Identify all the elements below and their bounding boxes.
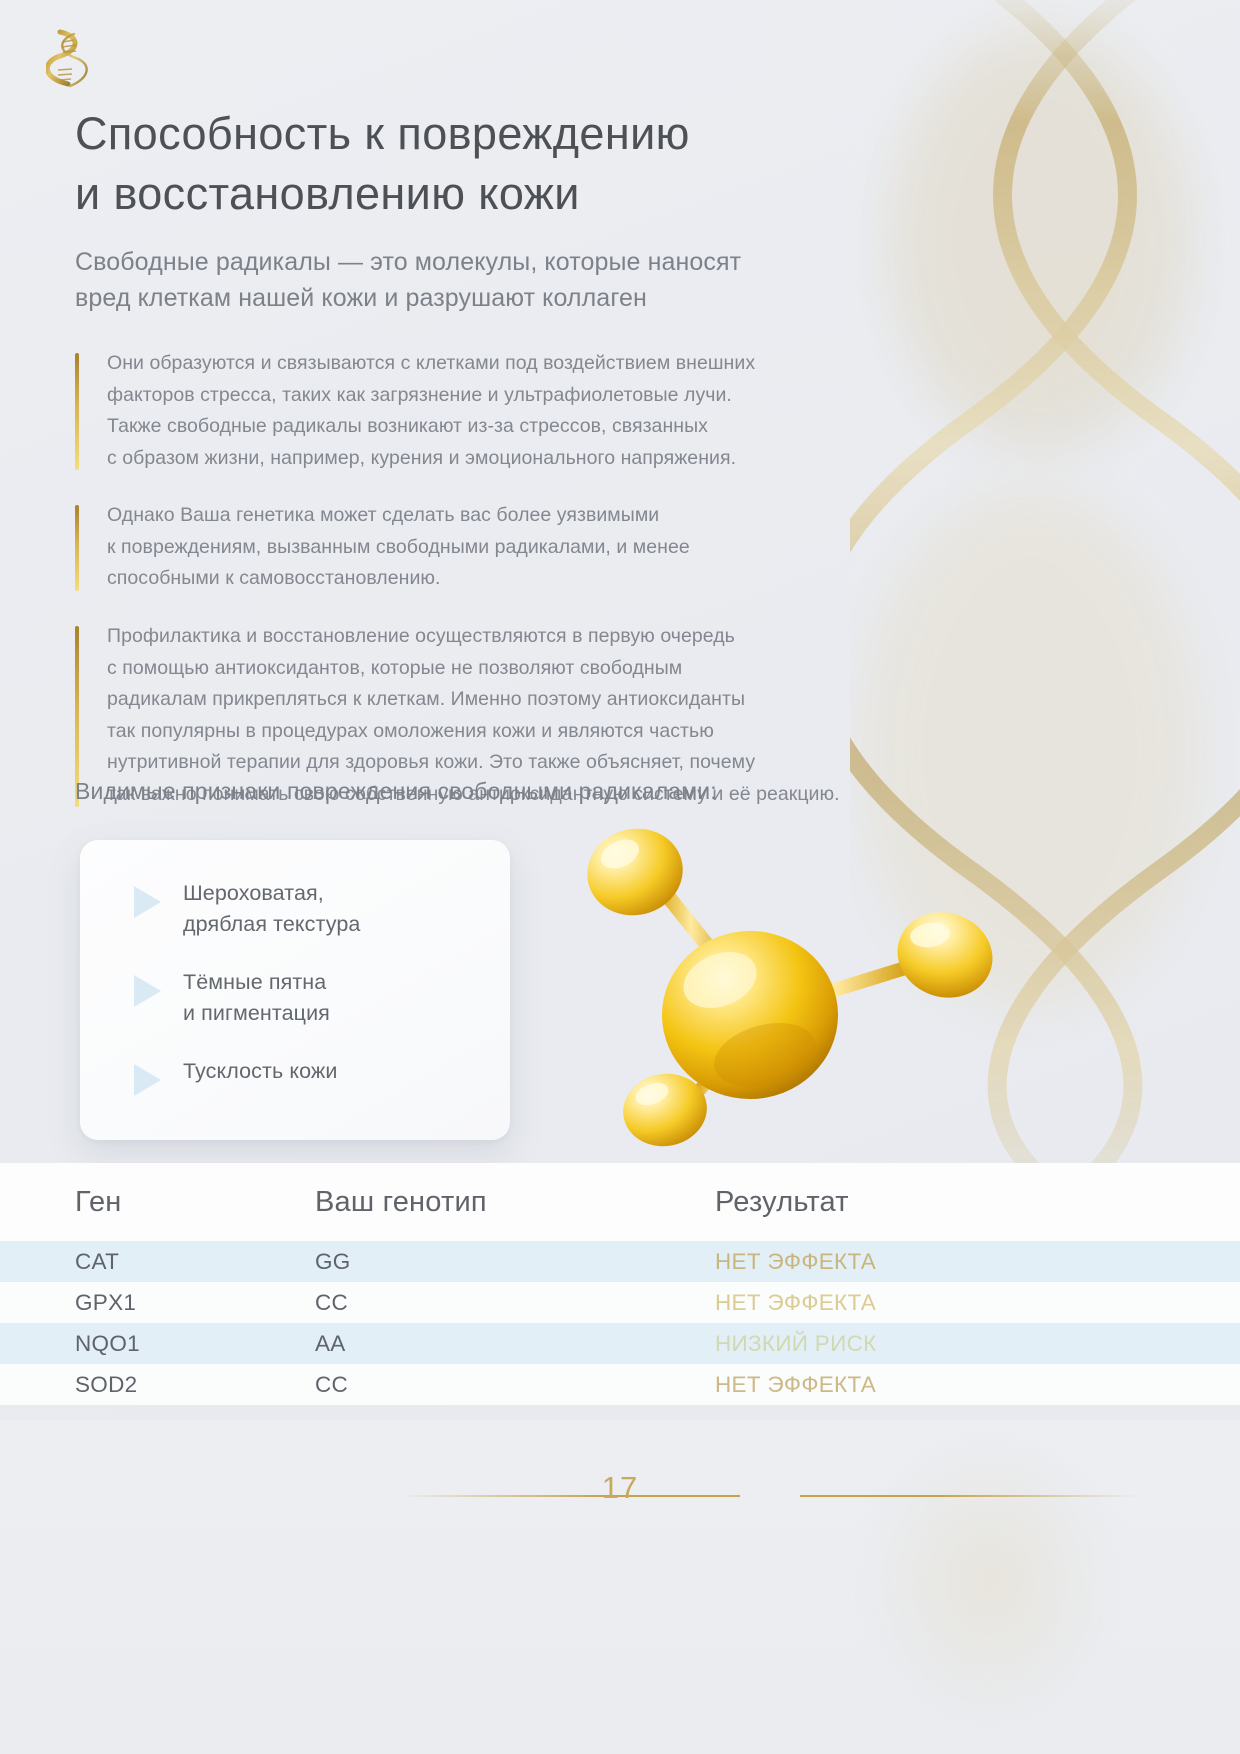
info-block-text: Однако Ваша генетика может сделать вас б… — [107, 500, 937, 595]
gene-results-table: Ген Ваш генотип Результат CAT GG НЕТ ЭФФ… — [0, 1163, 1240, 1405]
triangle-right-icon — [134, 1064, 161, 1096]
visible-signs-card: Шероховатая, дряблая текстура Тёмные пят… — [80, 840, 510, 1140]
table-row: SOD2 CC НЕТ ЭФФЕКТА — [0, 1364, 1240, 1405]
cell-genotype: CC — [315, 1290, 715, 1316]
page-number: 17 — [0, 1470, 1240, 1506]
table-row: CAT GG НЕТ ЭФФЕКТА — [0, 1241, 1240, 1282]
list-item-label: Тёмные пятна и пигментация — [183, 967, 330, 1028]
page-subtitle: Свободные радикалы — это молекулы, котор… — [75, 245, 955, 316]
dna-helix-logo-icon — [46, 26, 90, 94]
cell-genotype: AA — [315, 1331, 715, 1357]
list-item: Тусклость кожи — [110, 1056, 480, 1096]
table-header-row: Ген Ваш генотип Результат — [0, 1163, 1240, 1241]
report-page: Способность к повреждению и восстановлен… — [0, 0, 1240, 1754]
gold-molecule-illustration — [560, 820, 1030, 1160]
column-header-result: Результат — [715, 1186, 1240, 1219]
column-header-gene: Ген — [0, 1186, 315, 1219]
cell-gene: NQO1 — [0, 1331, 315, 1357]
list-item: Шероховатая, дряблая текстура — [110, 878, 480, 939]
cell-result: НЕТ ЭФФЕКТА — [715, 1290, 1240, 1316]
visible-signs-heading: Видимые признаки повреждения свободными … — [75, 778, 717, 805]
column-header-genotype: Ваш генотип — [315, 1186, 715, 1219]
cell-genotype: GG — [315, 1249, 715, 1275]
triangle-right-icon — [134, 886, 161, 918]
cell-gene: GPX1 — [0, 1290, 315, 1316]
info-block-text: Они образуются и связываются с клетками … — [107, 348, 937, 474]
cell-result: НЕТ ЭФФЕКТА — [715, 1249, 1240, 1275]
cell-genotype: CC — [315, 1372, 715, 1398]
table-row: GPX1 CC НЕТ ЭФФЕКТА — [0, 1282, 1240, 1323]
cell-gene: SOD2 — [0, 1372, 315, 1398]
page-title: Способность к повреждению и восстановлен… — [75, 104, 955, 225]
cell-result: НИЗКИЙ РИСК — [715, 1331, 1240, 1357]
info-block-list: Они образуются и связываются с клетками … — [75, 348, 937, 811]
info-block: Однако Ваша генетика может сделать вас б… — [75, 500, 937, 595]
gold-accent-bar — [75, 505, 79, 591]
cell-gene: CAT — [0, 1249, 315, 1275]
list-item-label: Тусклость кожи — [183, 1056, 338, 1087]
triangle-right-icon — [134, 975, 161, 1007]
list-item-label: Шероховатая, дряблая текстура — [183, 878, 360, 939]
cell-result: НЕТ ЭФФЕКТА — [715, 1372, 1240, 1398]
table-row: NQO1 AA НИЗКИЙ РИСК — [0, 1323, 1240, 1364]
gold-accent-bar — [75, 353, 79, 470]
list-item: Тёмные пятна и пигментация — [110, 967, 480, 1028]
info-block: Они образуются и связываются с клетками … — [75, 348, 937, 474]
